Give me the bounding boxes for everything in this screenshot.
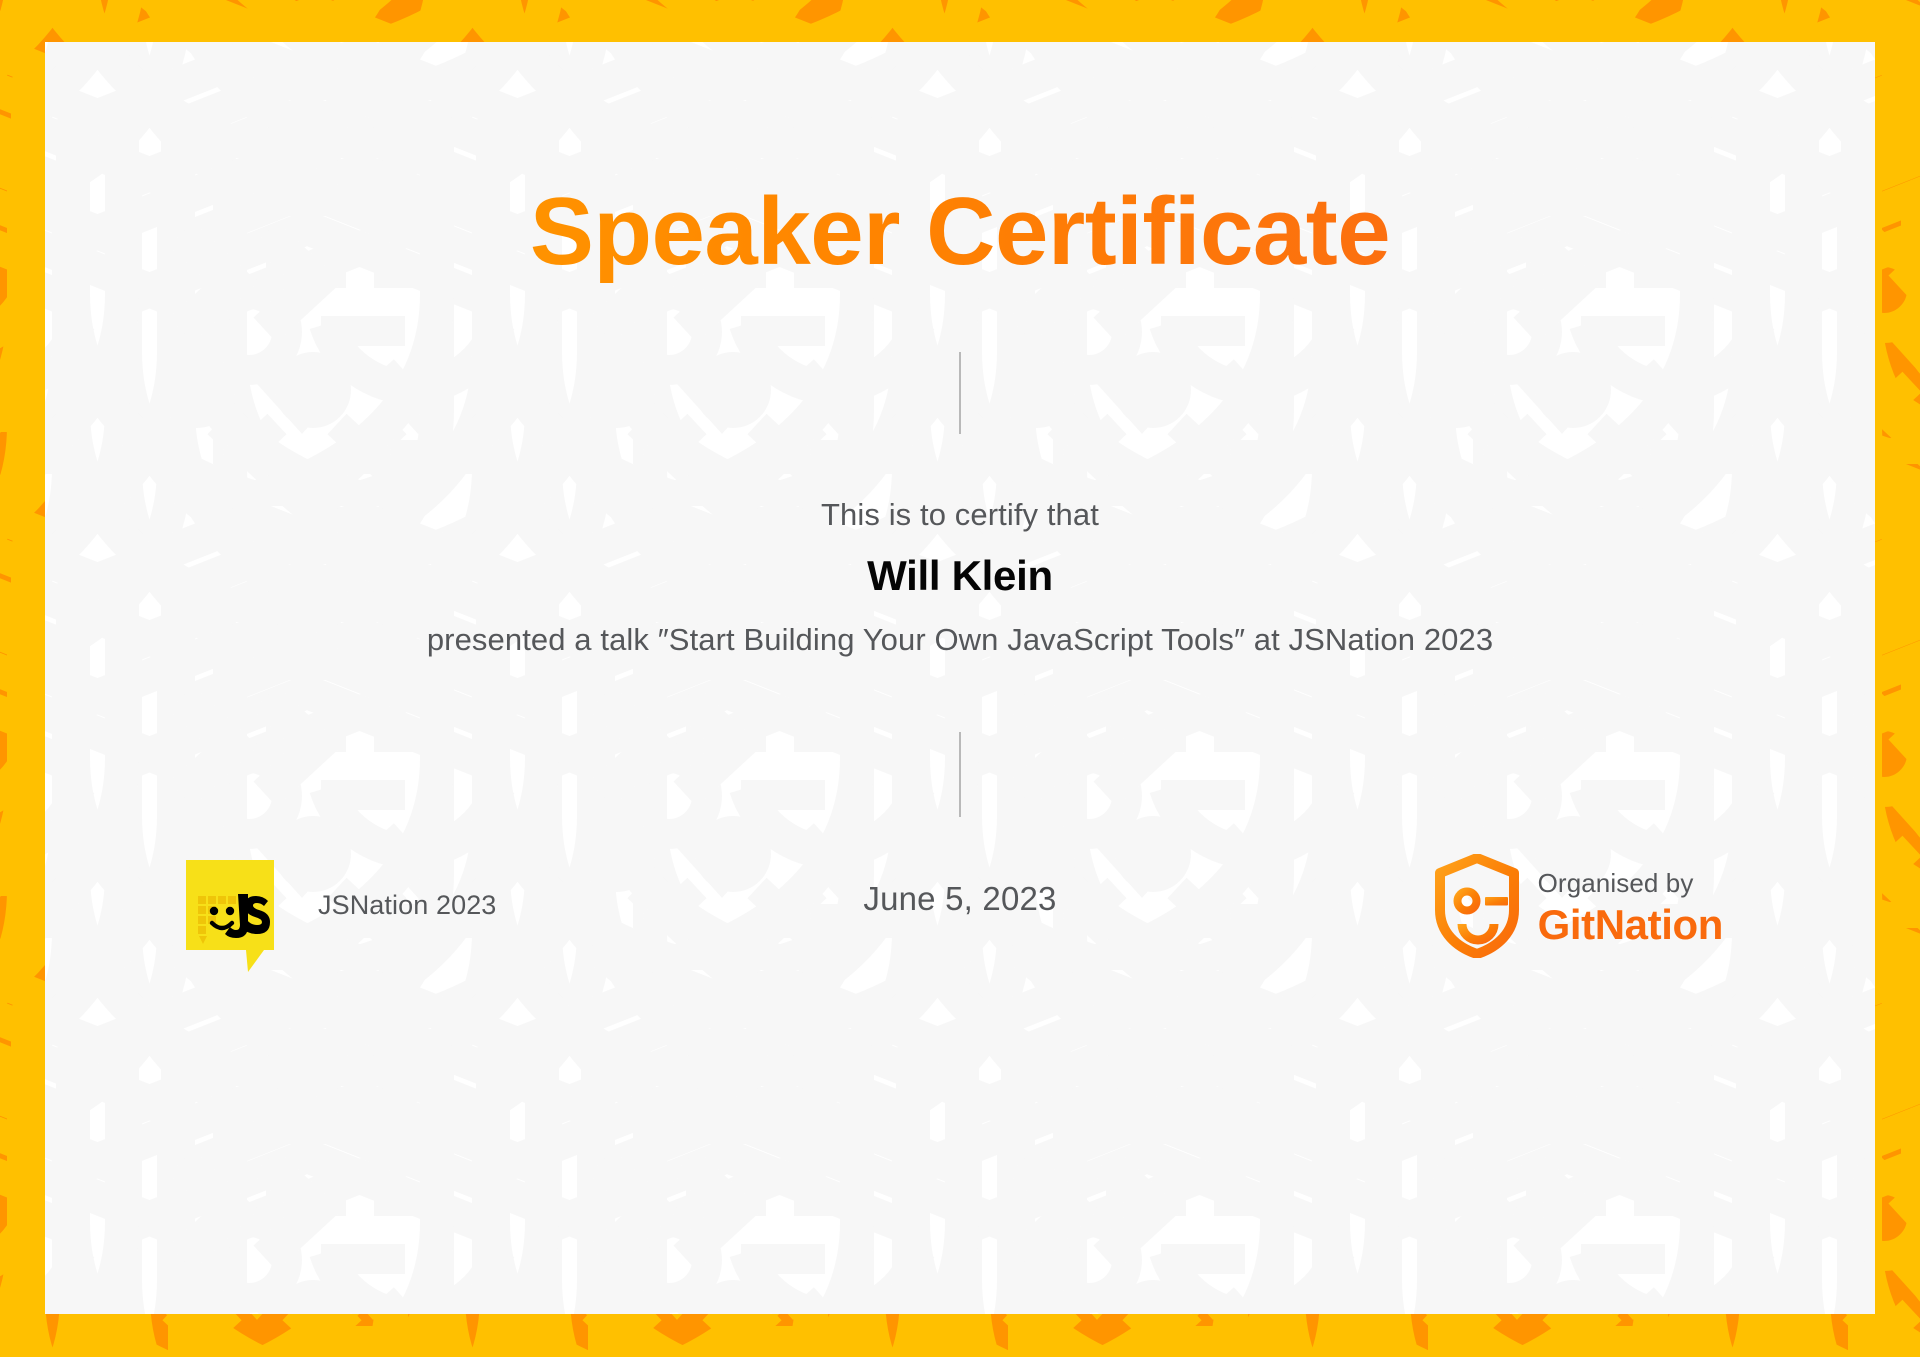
certificate-footer: JSNation 2023 June 5, 2023 — [45, 854, 1875, 1014]
organiser-name: GitNation — [1538, 902, 1723, 948]
organiser-block: Organised by GitNation — [1434, 854, 1723, 963]
talk-line: presented a talk ″Start Building Your Ow… — [45, 622, 1875, 658]
recipient-name: Will Klein — [45, 552, 1875, 600]
certify-line: This is to certify that — [45, 497, 1875, 533]
organiser-text: Organised by GitNation — [1538, 869, 1723, 948]
certificate-body: This is to certify that Will Klein prese… — [45, 497, 1875, 658]
divider-top — [959, 352, 961, 434]
organised-by-label: Organised by — [1538, 869, 1723, 898]
gitnation-shield-winking-face-icon — [1434, 854, 1520, 963]
divider-bottom — [959, 732, 961, 817]
certificate: Speaker Certificate This is to certify t… — [0, 0, 1920, 1357]
certificate-card: Speaker Certificate This is to certify t… — [45, 42, 1875, 1314]
page-title: Speaker Certificate — [45, 182, 1875, 283]
